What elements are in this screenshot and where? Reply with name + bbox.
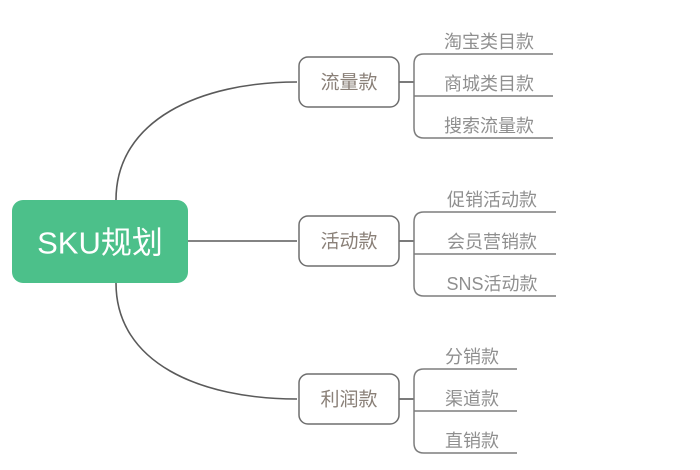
- mindmap-canvas: SKU规划 流量款 活动款 利润款 淘宝类目款 商城类目款 搜索流量款 促销活动…: [0, 0, 700, 470]
- leaf-label-1-1: 淘宝类目款: [444, 32, 534, 52]
- branch-node-1[interactable]: 流量款: [299, 57, 399, 107]
- mindmap-svg: SKU规划 流量款 活动款 利润款 淘宝类目款 商城类目款 搜索流量款 促销活动…: [0, 0, 700, 470]
- leaf-label-1-3: 搜索流量款: [444, 116, 534, 136]
- leaf-label-2-2: 会员营销款: [447, 232, 537, 252]
- leaf-label-3-2: 渠道款: [445, 389, 499, 409]
- leaf-label-2-3: SNS活动款: [446, 274, 537, 294]
- branch-node-2[interactable]: 活动款: [299, 216, 399, 266]
- leaf-label-3-1: 分销款: [445, 347, 499, 367]
- branch-node-1-label: 流量款: [320, 72, 377, 94]
- branch-node-3-label: 利润款: [320, 389, 377, 411]
- connector-root-to-branch-3: [116, 283, 297, 399]
- leaf-label-2-1: 促销活动款: [447, 190, 537, 210]
- branch-node-2-label: 活动款: [320, 231, 377, 253]
- root-node-label: SKU规划: [37, 226, 163, 261]
- branch-node-3[interactable]: 利润款: [299, 374, 399, 424]
- leaf-label-1-2: 商城类目款: [444, 74, 534, 94]
- leaf-label-3-3: 直销款: [445, 431, 499, 451]
- root-node[interactable]: SKU规划: [12, 200, 188, 283]
- connector-root-to-branch-1: [116, 82, 297, 200]
